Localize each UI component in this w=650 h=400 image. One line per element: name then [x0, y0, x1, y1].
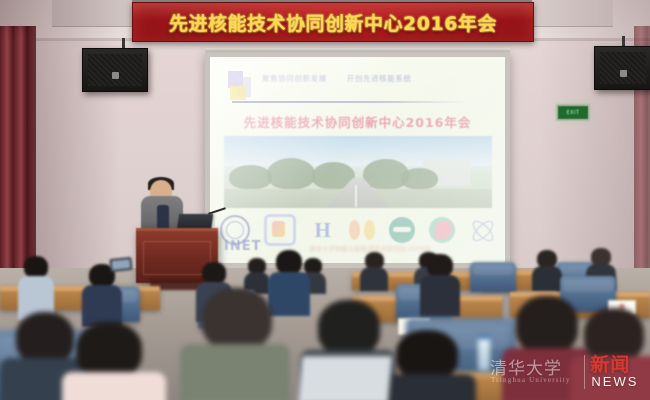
- attendee-front-ponytail: [62, 322, 166, 400]
- atom-orbit-logo: [469, 217, 495, 243]
- exit-sign: EXIT: [556, 104, 590, 121]
- cgn-circle-logo: [429, 217, 455, 243]
- slide-decoration-icon: [228, 71, 254, 101]
- attendee-middle-4: [420, 254, 460, 314]
- wall-speaker-right: [594, 46, 650, 90]
- letter-h-logo: H: [310, 217, 336, 243]
- leaf-circle-logo: [389, 217, 415, 243]
- slide-title: 先进核能技术协同创新中心2016年会: [210, 112, 505, 131]
- attendee-back-3: [360, 252, 388, 290]
- event-banner: 先进核能技术协同创新中心2016年会: [132, 2, 534, 42]
- slide-subtitle: 聚焦协同创新发展 开创先进核能系统: [262, 73, 492, 84]
- attendee-back-1: [244, 258, 270, 292]
- inet-wordmark: INET: [224, 239, 261, 254]
- speaker-badge-right: [620, 70, 627, 77]
- attendee-front-dark: [380, 330, 476, 400]
- projection-screen: 聚焦协同创新发展 开创先进核能系统 先进核能技术协同创新中心2016年会 H: [210, 57, 505, 263]
- smartphone-screen: [112, 259, 131, 270]
- laptop-front: [298, 356, 392, 400]
- conference-photo: EXIT 先进核能技术协同创新中心2016年会 聚焦协同创新发展 开创先进核能系…: [0, 0, 650, 400]
- water-bottle-front: [478, 336, 490, 371]
- swirl-logo: [349, 217, 375, 243]
- photo-tree-5: [401, 168, 439, 190]
- attendee-front-center: [180, 288, 290, 400]
- seat-back-1: [470, 262, 516, 292]
- photo-tree-2: [267, 158, 315, 190]
- attendee-back-5: [532, 250, 562, 290]
- exit-sign-label: EXIT: [566, 110, 579, 116]
- photo-road-marking: [355, 185, 357, 207]
- rounded-square-logo: [264, 214, 296, 246]
- slide-campus-photo: [224, 136, 492, 208]
- slide-subtitle-right: 开创先进核能系统: [347, 74, 412, 83]
- slide-divider: [232, 101, 468, 103]
- photo-tree-1: [229, 165, 272, 189]
- attendee-front-far-right: [570, 308, 650, 400]
- speaker-badge-left: [112, 72, 119, 79]
- event-banner-text: 先进核能技术协同创新中心2016年会: [169, 9, 497, 36]
- wall-speaker-left: [82, 48, 148, 92]
- slide-subtitle-left: 聚焦协同创新发展: [262, 74, 327, 83]
- attendee-middle-1: [18, 256, 54, 318]
